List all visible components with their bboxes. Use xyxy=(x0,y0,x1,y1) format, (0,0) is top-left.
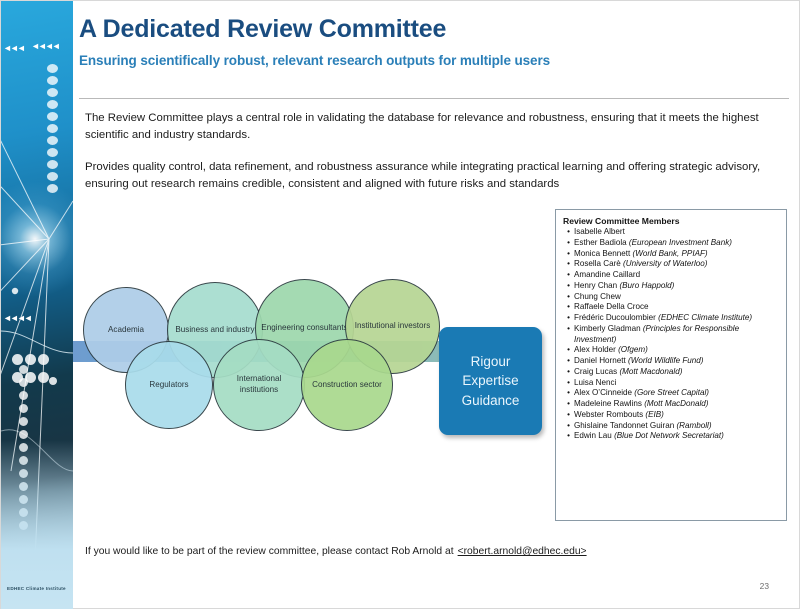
member-name: Alex O’Cinneide (Gore Street Capital) xyxy=(574,388,780,399)
member-list-item: •Edwin Lau (Blue Dot Network Secretariat… xyxy=(563,431,780,442)
outcome-line-1: Rigour xyxy=(471,352,511,371)
stakeholder-diagram: Academia Business and industry Engineeri… xyxy=(73,263,553,443)
member-list-item: •Alex O’Cinneide (Gore Street Capital) xyxy=(563,388,780,399)
chevron-left-icon-3: ◄◄◄◄ xyxy=(3,313,31,323)
bullet-icon: • xyxy=(563,356,574,367)
bullet-icon: • xyxy=(563,367,574,378)
member-affiliation: (Principles for Responsible Investment) xyxy=(574,324,739,344)
bullet-icon: • xyxy=(563,345,574,356)
slide-canvas: ◄◄◄ ◄◄◄◄ ◄◄◄◄ EDHEC Climate Institute A … xyxy=(0,0,800,609)
member-list-item: •Henry Chan (Buro Happold) xyxy=(563,281,780,292)
page-number: 23 xyxy=(760,581,769,591)
bubble-label: Business and industry xyxy=(175,325,254,336)
decorative-left-band: ◄◄◄ ◄◄◄◄ ◄◄◄◄ EDHEC Climate Institute xyxy=(1,1,73,609)
bullet-icon: • xyxy=(563,410,574,421)
bullet-icon: • xyxy=(563,302,574,313)
member-affiliation: (Gore Street Capital) xyxy=(634,388,709,397)
page-subtitle: Ensuring scientifically robust, relevant… xyxy=(79,53,793,68)
bubble-regulators[interactable]: Regulators xyxy=(125,341,213,429)
contact-text: If you would like to be part of the revi… xyxy=(85,546,454,557)
member-name: Frédéric Ducoulombier (EDHEC Climate Ins… xyxy=(574,313,780,324)
member-list-item: •Daniel Hornett (World Wildlife Fund) xyxy=(563,356,780,367)
bullet-icon: • xyxy=(563,313,574,324)
bubble-construction-sector[interactable]: Construction sector xyxy=(301,339,393,431)
header: A Dedicated Review Committee Ensuring sc… xyxy=(79,15,793,68)
member-name: Henry Chan (Buro Happold) xyxy=(574,281,780,292)
bullet-icon: • xyxy=(563,259,574,270)
member-affiliation: (Mott Macdonald) xyxy=(619,367,682,376)
bubble-label: Academia xyxy=(108,325,144,336)
chevron-left-icon-2: ◄◄◄◄ xyxy=(31,41,59,51)
bullet-icon: • xyxy=(563,388,574,399)
member-name: Monica Bennett (World Bank, PPIAF) xyxy=(574,249,780,260)
bubble-international-institutions[interactable]: International institutions xyxy=(213,339,305,431)
member-name: Madeleine Rawlins (Mott MacDonald) xyxy=(574,399,780,410)
member-name: Daniel Hornett (World Wildlife Fund) xyxy=(574,356,780,367)
bullet-icon: • xyxy=(563,431,574,442)
member-affiliation: (Buro Happold) xyxy=(619,281,674,290)
member-name: Chung Chew xyxy=(574,292,780,303)
member-affiliation: (EDHEC Climate Institute) xyxy=(658,313,752,322)
member-name: Craig Lucas (Mott Macdonald) xyxy=(574,367,780,378)
member-list-item: •Craig Lucas (Mott Macdonald) xyxy=(563,367,780,378)
contact-email-link[interactable]: <robert.arnold@edhec.edu> xyxy=(458,546,587,557)
bubble-label: Regulators xyxy=(149,380,188,391)
member-list-item: •Isabelle Albert xyxy=(563,227,780,238)
contact-bar: If you would like to be part of the revi… xyxy=(85,539,785,564)
header-divider xyxy=(79,98,789,99)
bullet-icon: • xyxy=(563,270,574,281)
chevron-left-icon: ◄◄◄ xyxy=(3,43,24,53)
bullet-icon: • xyxy=(563,378,574,389)
outcome-line-2: Expertise xyxy=(462,371,518,390)
members-panel: Review Committee Members •Isabelle Alber… xyxy=(555,209,787,521)
member-name: Kimberly Gladman (Principles for Respons… xyxy=(574,324,780,346)
page-title: A Dedicated Review Committee xyxy=(79,15,793,44)
member-name: Raffaele Della Croce xyxy=(574,302,780,313)
member-affiliation: (European Investment Bank) xyxy=(629,238,732,247)
member-name: Isabelle Albert xyxy=(574,227,780,238)
member-list-item: •Chung Chew xyxy=(563,292,780,303)
bubble-label: Construction sector xyxy=(312,380,382,391)
body-copy: The Review Committee plays a central rol… xyxy=(85,110,785,192)
member-affiliation: (Blue Dot Network Secretariat) xyxy=(614,431,724,440)
member-list-item: •Luisa Nenci xyxy=(563,378,780,389)
bullet-icon: • xyxy=(563,292,574,303)
members-list: •Isabelle Albert•Esther Badiola (Europea… xyxy=(563,227,780,442)
member-list-item: •Monica Bennett (World Bank, PPIAF) xyxy=(563,249,780,260)
member-list-item: •Kimberly Gladman (Principles for Respon… xyxy=(563,324,780,346)
member-name: Rosella Carè (University of Waterloo) xyxy=(574,259,780,270)
outcome-box[interactable]: Rigour Expertise Guidance xyxy=(439,327,542,435)
member-list-item: •Webster Rombouts (EIB) xyxy=(563,410,780,421)
member-name: Luisa Nenci xyxy=(574,378,780,389)
bullet-icon: • xyxy=(563,238,574,249)
logo-label: EDHEC Climate Institute xyxy=(7,586,66,591)
bullet-icon: • xyxy=(563,324,574,346)
member-name: Ghislaine Tandonnet Guiran (Ramboll) xyxy=(574,421,780,432)
member-name: Alex Holder (Ofgem) xyxy=(574,345,780,356)
outcome-line-3: Guidance xyxy=(462,391,520,410)
member-list-item: •Rosella Carè (University of Waterloo) xyxy=(563,259,780,270)
member-list-item: •Ghislaine Tandonnet Guiran (Ramboll) xyxy=(563,421,780,432)
member-name: Webster Rombouts (EIB) xyxy=(574,410,780,421)
body-paragraph-1: The Review Committee plays a central rol… xyxy=(85,110,785,143)
bullet-icon: • xyxy=(563,227,574,238)
member-affiliation: (Ramboll) xyxy=(676,421,711,430)
member-name: Esther Badiola (European Investment Bank… xyxy=(574,238,780,249)
member-affiliation: (Ofgem) xyxy=(618,345,648,354)
member-affiliation: (World Wildlife Fund) xyxy=(628,356,703,365)
member-affiliation: (University of Waterloo) xyxy=(623,259,707,268)
member-list-item: •Frédéric Ducoulombier (EDHEC Climate In… xyxy=(563,313,780,324)
member-affiliation: (Mott MacDonald) xyxy=(644,399,708,408)
bullet-icon: • xyxy=(563,249,574,260)
member-list-item: •Esther Badiola (European Investment Ban… xyxy=(563,238,780,249)
body-paragraph-2: Provides quality control, data refinemen… xyxy=(85,159,785,192)
member-affiliation: (EIB) xyxy=(645,410,663,419)
dot-column-icon xyxy=(47,61,61,196)
bubble-label: Institutional investors xyxy=(355,321,431,332)
member-list-item: •Alex Holder (Ofgem) xyxy=(563,345,780,356)
bubble-label: International institutions xyxy=(218,374,300,395)
member-list-item: •Raffaele Della Croce xyxy=(563,302,780,313)
member-list-item: •Amandine Caillard xyxy=(563,270,780,281)
bullet-icon: • xyxy=(563,281,574,292)
bubble-label: Engineering consultants xyxy=(261,323,347,334)
bullet-icon: • xyxy=(563,399,574,410)
member-name: Edwin Lau (Blue Dot Network Secretariat) xyxy=(574,431,780,442)
members-panel-title: Review Committee Members xyxy=(563,216,780,226)
logo: EDHEC Climate Institute xyxy=(1,578,73,598)
member-list-item: •Madeleine Rawlins (Mott MacDonald) xyxy=(563,399,780,410)
member-affiliation: (World Bank, PPIAF) xyxy=(633,249,708,258)
bullet-icon: • xyxy=(563,421,574,432)
member-name: Amandine Caillard xyxy=(574,270,780,281)
